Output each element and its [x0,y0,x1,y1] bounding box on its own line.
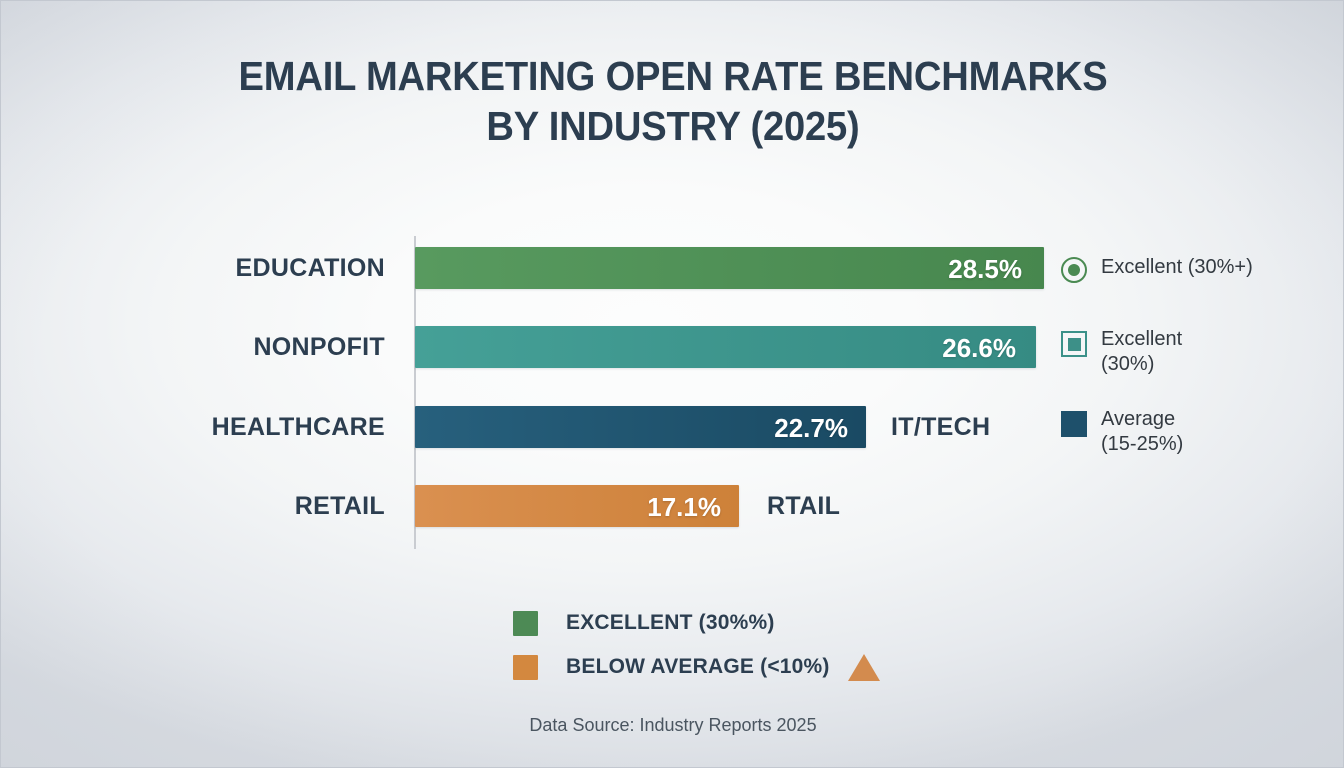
bar-value-label: 22.7% [774,406,848,450]
bar-category-label: RETAIL [41,484,385,528]
legend-swatch-orange [513,655,538,680]
chart-title-line-1: EMAIL MARKETING OPEN RATE BENCHMARKS [48,51,1298,101]
nested-square-icon [1061,331,1087,357]
bar-value-label: 26.6% [942,326,1016,370]
legend-item-excellent-30[interactable]: Excellent (30%) [1061,327,1182,377]
solid-square-icon [1061,411,1087,437]
legend-item-excellent[interactable]: EXCELLENT (30%%) [513,601,880,645]
bar-healthcare[interactable]: 22.7% [415,406,866,448]
legend-swatch-green [513,611,538,636]
legend-item-label: Excellent (30%+) [1101,255,1253,280]
legend-item-excellent-30-plus[interactable]: Excellent (30%+) [1061,255,1253,283]
legend-item-label: Excellent (30%) [1101,327,1182,377]
bar-value-label: 17.1% [647,485,721,529]
bar-category-label: EDUCATION [41,246,385,290]
legend-item-label: BELOW AVERAGE (<10%) [566,655,830,679]
stray-axis-label-it-tech: IT/TECH [891,405,990,449]
bar-row: RETAIL 17.1% RTAIL [1,484,1344,528]
stray-axis-label-rtail: RTAIL [767,484,840,528]
bar-category-label: NONPOFIT [41,325,385,369]
triangle-marker-icon [848,654,880,681]
legend-item-label: Average (15-25%) [1101,407,1183,457]
target-ring-icon [1061,257,1087,283]
chart-title: EMAIL MARKETING OPEN RATE BENCHMARKS BY … [1,51,1344,151]
bottom-legend: EXCELLENT (30%%) BELOW AVERAGE (<10%) [513,601,880,689]
chart-title-line-2: BY INDUSTRY (2025) [48,101,1298,151]
legend-item-average[interactable]: Average (15-25%) [1061,407,1183,457]
bar-value-label: 28.5% [948,247,1022,291]
infographic-canvas: EMAIL MARKETING OPEN RATE BENCHMARKS BY … [0,0,1344,768]
bar-retail[interactable]: 17.1% [415,485,739,527]
bar-nonpofit[interactable]: 26.6% [415,326,1036,368]
data-source-note: Data Source: Industry Reports 2025 [1,715,1344,736]
bar-education[interactable]: 28.5% [415,247,1044,289]
bar-category-label: HEALTHCARE [41,405,385,449]
legend-item-label: EXCELLENT (30%%) [566,611,775,635]
legend-item-below-average[interactable]: BELOW AVERAGE (<10%) [513,645,880,689]
